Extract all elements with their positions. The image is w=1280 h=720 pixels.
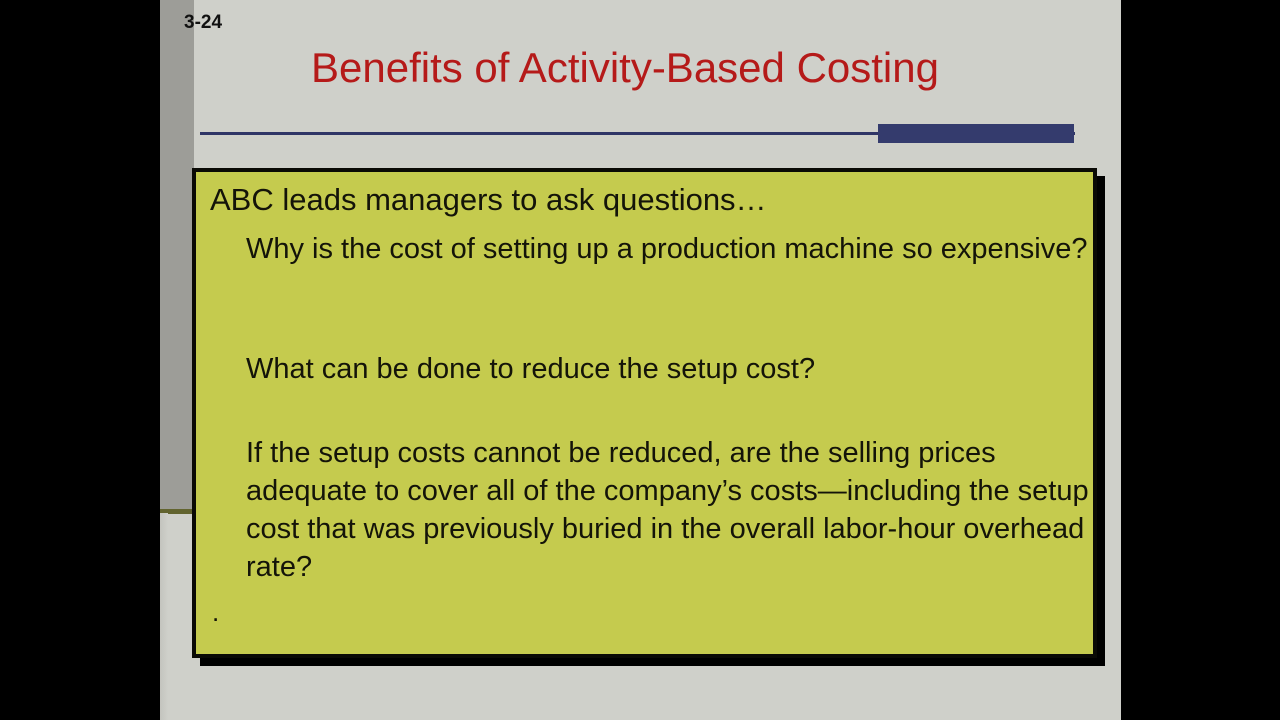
content-trailing-mark: .	[212, 597, 219, 628]
content-paragraph-1: Why is the cost of setting up a producti…	[246, 230, 1091, 268]
content-lead-line: ABC leads managers to ask questions…	[210, 180, 1079, 220]
slide-title: Benefits of Activity-Based Costing	[160, 44, 1090, 92]
content-box: ABC leads managers to ask questions… Why…	[192, 168, 1097, 658]
slide-left-edge-sheen-lower	[160, 513, 168, 720]
title-accent-block	[878, 124, 1074, 143]
content-box-inner: ABC leads managers to ask questions… Why…	[196, 172, 1093, 654]
video-letterbox-frame: 3-24 Benefits of Activity-Based Costing …	[0, 0, 1280, 720]
slide-number-badge: 3-24	[184, 12, 222, 34]
presentation-slide: 3-24 Benefits of Activity-Based Costing …	[160, 0, 1121, 720]
content-paragraph-3: If the setup costs cannot be reduced, ar…	[246, 434, 1106, 586]
content-paragraph-2: What can be done to reduce the setup cos…	[246, 350, 1091, 388]
